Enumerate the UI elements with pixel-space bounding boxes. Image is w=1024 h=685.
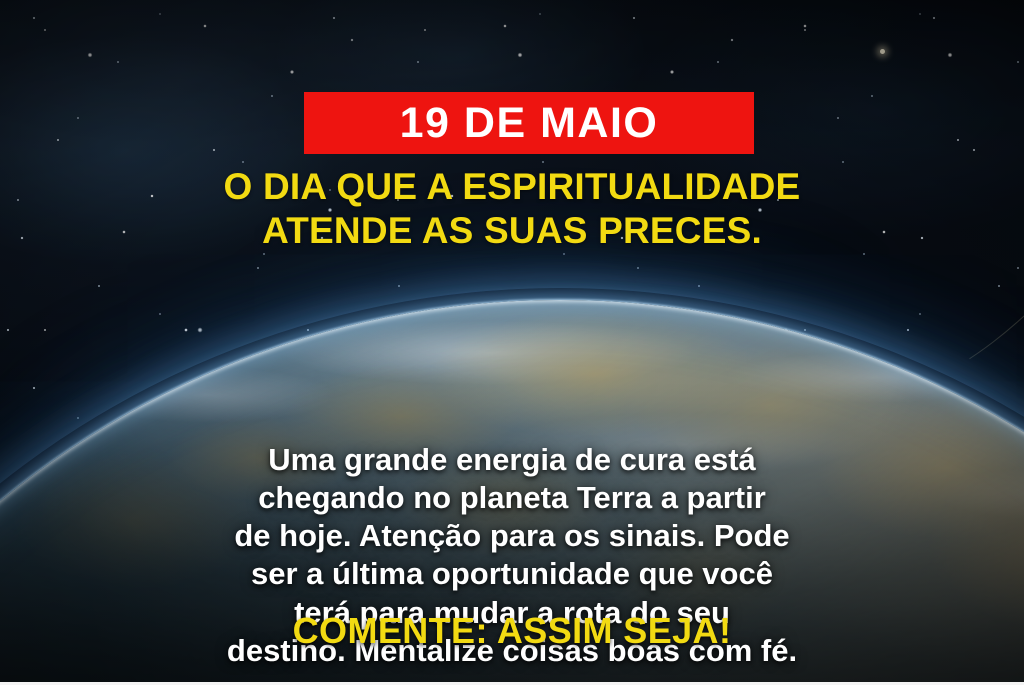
date-banner-text: 19 DE MAIO [400,102,659,145]
headline-line-2: ATENDE AS SUAS PRECES. [0,209,1024,253]
date-banner: 19 DE MAIO [304,92,754,154]
poster-content: 19 DE MAIO O DIA QUE A ESPIRITUALIDADE A… [0,0,1024,685]
headline: O DIA QUE A ESPIRITUALIDADE ATENDE AS SU… [0,165,1024,252]
body-line-1: Uma grande energia de cura está [50,441,974,479]
headline-line-1: O DIA QUE A ESPIRITUALIDADE [0,165,1024,209]
call-to-action-text: COMENTE: ASSIM SEJA! [0,611,1024,651]
body-line-3: de hoje. Atenção para os sinais. Pode [50,517,974,555]
poster-canvas: 19 DE MAIO O DIA QUE A ESPIRITUALIDADE A… [0,0,1024,685]
body-line-4: ser a última oportunidade que você [50,555,974,593]
body-line-2: chegando no planeta Terra a partir [50,479,974,517]
